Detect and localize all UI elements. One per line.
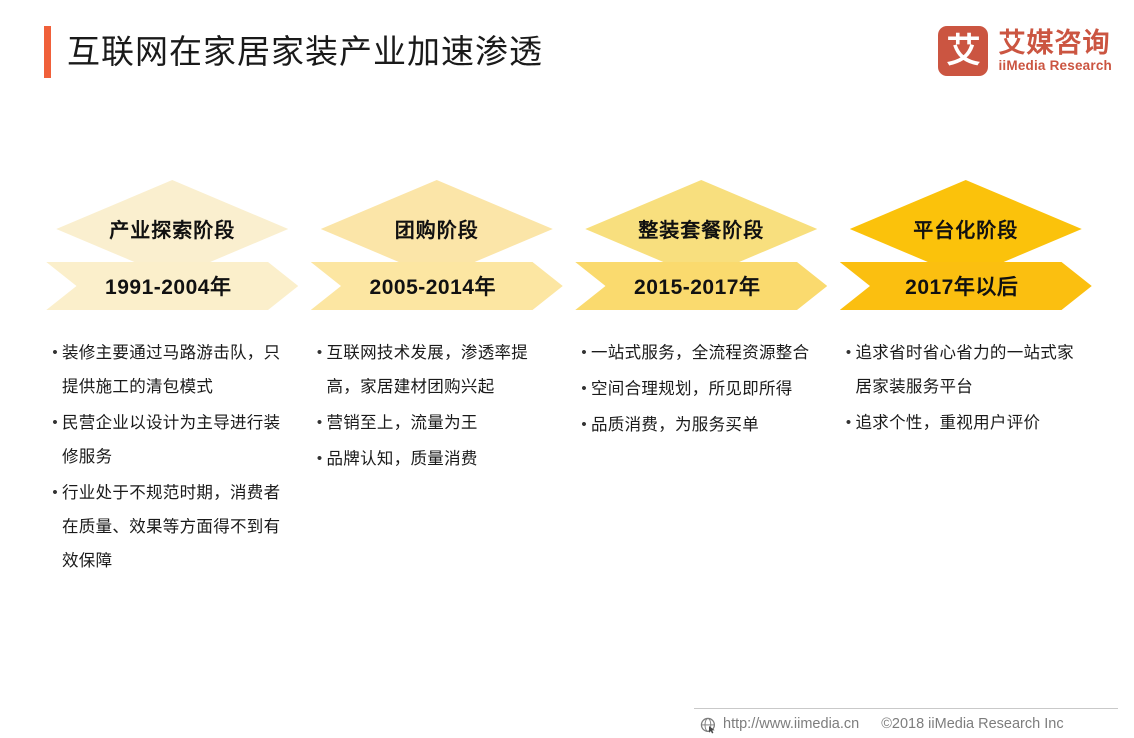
bullet-marker-icon: •	[834, 336, 856, 404]
bullet-item: •民营企业以设计为主导进行装修服务	[40, 406, 297, 474]
stage-details: •装修主要通过马路游击队，只提供施工的清包模式•民营企业以设计为主导进行装修服务…	[40, 336, 1098, 580]
logo-mark-glyph: 艾	[946, 34, 980, 68]
bullet-marker-icon: •	[569, 336, 591, 370]
stage-period-2: 2005-2014年	[370, 271, 496, 301]
stage-period-banner-1: 1991-2004年	[46, 262, 298, 310]
bullet-text: 营销至上，流量为王	[327, 406, 562, 440]
stage-column-2: 团购阶段 2005-2014年	[305, 180, 570, 320]
bullet-item: •行业处于不规范时期，消费者在质量、效果等方面得不到有效保障	[40, 476, 297, 578]
bullet-text: 互联网技术发展，渗透率提高，家居建材团购兴起	[327, 336, 562, 404]
bullet-marker-icon: •	[305, 406, 327, 440]
bullet-column-4: •追求省时省心省力的一站式家居家装服务平台•追求个性，重视用户评价	[834, 336, 1099, 580]
bullet-item: •品牌认知，质量消费	[305, 442, 562, 476]
bullet-item: •追求省时省心省力的一站式家居家装服务平台	[834, 336, 1091, 404]
stage-period-1: 1991-2004年	[105, 271, 231, 301]
logo-name-en: iiMedia Research	[998, 58, 1112, 74]
stage-name-2: 团购阶段	[395, 214, 479, 243]
brand-logo: 艾 艾媒咨询 iiMedia Research	[938, 26, 1112, 76]
logo-mark-icon: 艾	[938, 26, 988, 76]
bullet-item: •品质消费，为服务买单	[569, 408, 826, 442]
bullet-column-2: •互联网技术发展，渗透率提高，家居建材团购兴起•营销至上，流量为王•品牌认知，质…	[305, 336, 570, 580]
bullet-marker-icon: •	[40, 406, 62, 474]
stage-period-3: 2015-2017年	[634, 271, 760, 301]
stage-period-banner-3: 2015-2017年	[575, 262, 827, 310]
bullet-text: 一站式服务，全流程资源整合	[591, 336, 826, 370]
bullet-marker-icon: •	[305, 336, 327, 404]
bullet-item: •互联网技术发展，渗透率提高，家居建材团购兴起	[305, 336, 562, 404]
stage-timeline: 产业探索阶段 1991-2004年 团购阶段 2005-2014年 整装套餐阶段…	[40, 180, 1098, 320]
bullet-column-1: •装修主要通过马路游击队，只提供施工的清包模式•民营企业以设计为主导进行装修服务…	[40, 336, 305, 580]
stage-name-3: 整装套餐阶段	[638, 214, 764, 243]
bullet-text: 品牌认知，质量消费	[327, 442, 562, 476]
stage-name-4: 平台化阶段	[913, 214, 1018, 243]
bullet-text: 装修主要通过马路游击队，只提供施工的清包模式	[62, 336, 297, 404]
footer-copyright: ©2018 iiMedia Research Inc	[881, 716, 1063, 732]
bullet-text: 品质消费，为服务买单	[591, 408, 826, 442]
stage-column-3: 整装套餐阶段 2015-2017年	[569, 180, 834, 320]
bullet-marker-icon: •	[569, 372, 591, 406]
bullet-item: •追求个性，重视用户评价	[834, 406, 1091, 440]
title-group: 互联网在家居家装产业加速渗透	[44, 26, 543, 78]
logo-text-group: 艾媒咨询 iiMedia Research	[998, 29, 1112, 74]
footer-url[interactable]: http://www.iimedia.cn	[723, 716, 859, 732]
bullet-marker-icon: •	[40, 476, 62, 578]
bullet-item: •空间合理规划，所见即所得	[569, 372, 826, 406]
bullet-text: 行业处于不规范时期，消费者在质量、效果等方面得不到有效保障	[62, 476, 297, 578]
page-title: 互联网在家居家装产业加速渗透	[67, 26, 543, 78]
stage-period-4: 2017年以后	[905, 271, 1018, 301]
bullet-marker-icon: •	[569, 408, 591, 442]
bullet-marker-icon: •	[305, 442, 327, 476]
footer-divider	[694, 708, 1118, 709]
bullet-marker-icon: •	[834, 406, 856, 440]
bullet-item: •一站式服务，全流程资源整合	[569, 336, 826, 370]
bullet-text: 民营企业以设计为主导进行装修服务	[62, 406, 297, 474]
bullet-column-3: •一站式服务，全流程资源整合•空间合理规划，所见即所得•品质消费，为服务买单	[569, 336, 834, 580]
stage-name-1: 产业探索阶段	[109, 214, 235, 243]
bullet-text: 空间合理规划，所见即所得	[591, 372, 826, 406]
stage-period-banner-4: 2017年以后	[840, 262, 1092, 310]
bullet-text: 追求个性，重视用户评价	[856, 406, 1091, 440]
stage-period-banner-2: 2005-2014年	[311, 262, 563, 310]
globe-cursor-icon	[700, 717, 717, 734]
bullet-text: 追求省时省心省力的一站式家居家装服务平台	[856, 336, 1091, 404]
bullet-item: •装修主要通过马路游击队，只提供施工的清包模式	[40, 336, 297, 404]
stage-column-1: 产业探索阶段 1991-2004年	[40, 180, 305, 320]
page-header: 互联网在家居家装产业加速渗透 艾 艾媒咨询 iiMedia Research	[0, 0, 1134, 110]
bullet-item: •营销至上，流量为王	[305, 406, 562, 440]
logo-name-cn: 艾媒咨询	[998, 29, 1112, 58]
page-footer: http://www.iimedia.cn ©2018 iiMedia Rese…	[700, 712, 1130, 736]
stage-column-4: 平台化阶段 2017年以后	[834, 180, 1099, 320]
bullet-marker-icon: •	[40, 336, 62, 404]
title-accent-bar	[44, 26, 51, 78]
